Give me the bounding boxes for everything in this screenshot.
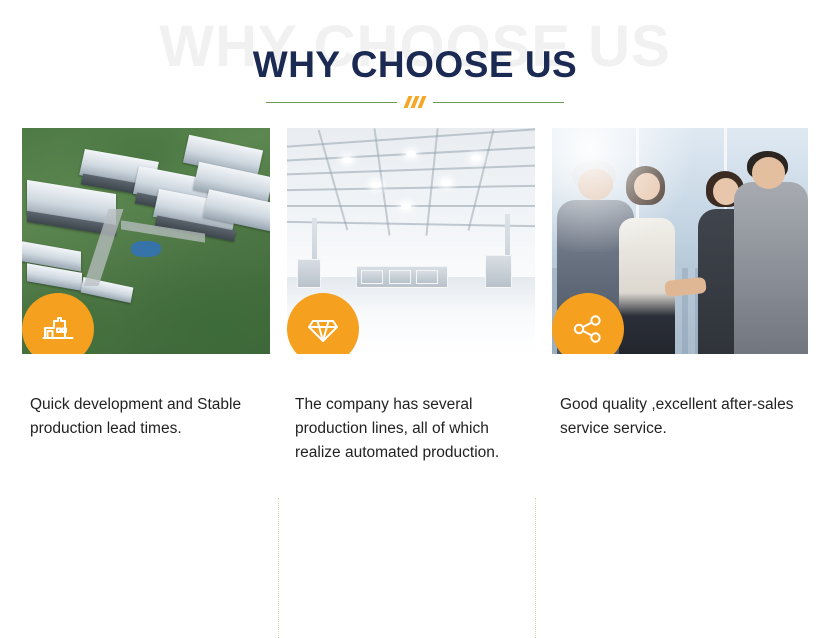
- column-divider-2: [535, 498, 537, 638]
- feature-cards: Quick development and Stable production …: [0, 128, 830, 528]
- page-title: WHY CHOOSE US: [0, 46, 830, 83]
- card-3-caption: Good quality ,excellent after-sales serv…: [560, 393, 808, 441]
- share-network-icon: [571, 312, 605, 346]
- diamond-icon: [306, 312, 340, 346]
- feature-card-1[interactable]: Quick development and Stable production …: [22, 128, 284, 528]
- column-divider-1: [278, 498, 280, 638]
- card-3-image: [552, 128, 808, 354]
- section-header: WHY CHOOSE US WHY CHOOSE US: [0, 0, 830, 128]
- divider-line-right: [433, 102, 564, 103]
- divider-marks: [406, 95, 424, 109]
- card-2-image: [287, 128, 535, 354]
- card-1-image: [22, 128, 270, 354]
- card-1-caption: Quick development and Stable production …: [30, 393, 266, 441]
- title-divider: [0, 95, 830, 109]
- feature-card-2[interactable]: The company has several production lines…: [287, 128, 549, 528]
- divider-line-left: [266, 102, 397, 103]
- factory-icon: [41, 312, 75, 346]
- feature-card-3[interactable]: Good quality ,excellent after-sales serv…: [552, 128, 814, 528]
- card-2-caption: The company has several production lines…: [295, 393, 531, 465]
- divider-mark-3: [418, 96, 427, 108]
